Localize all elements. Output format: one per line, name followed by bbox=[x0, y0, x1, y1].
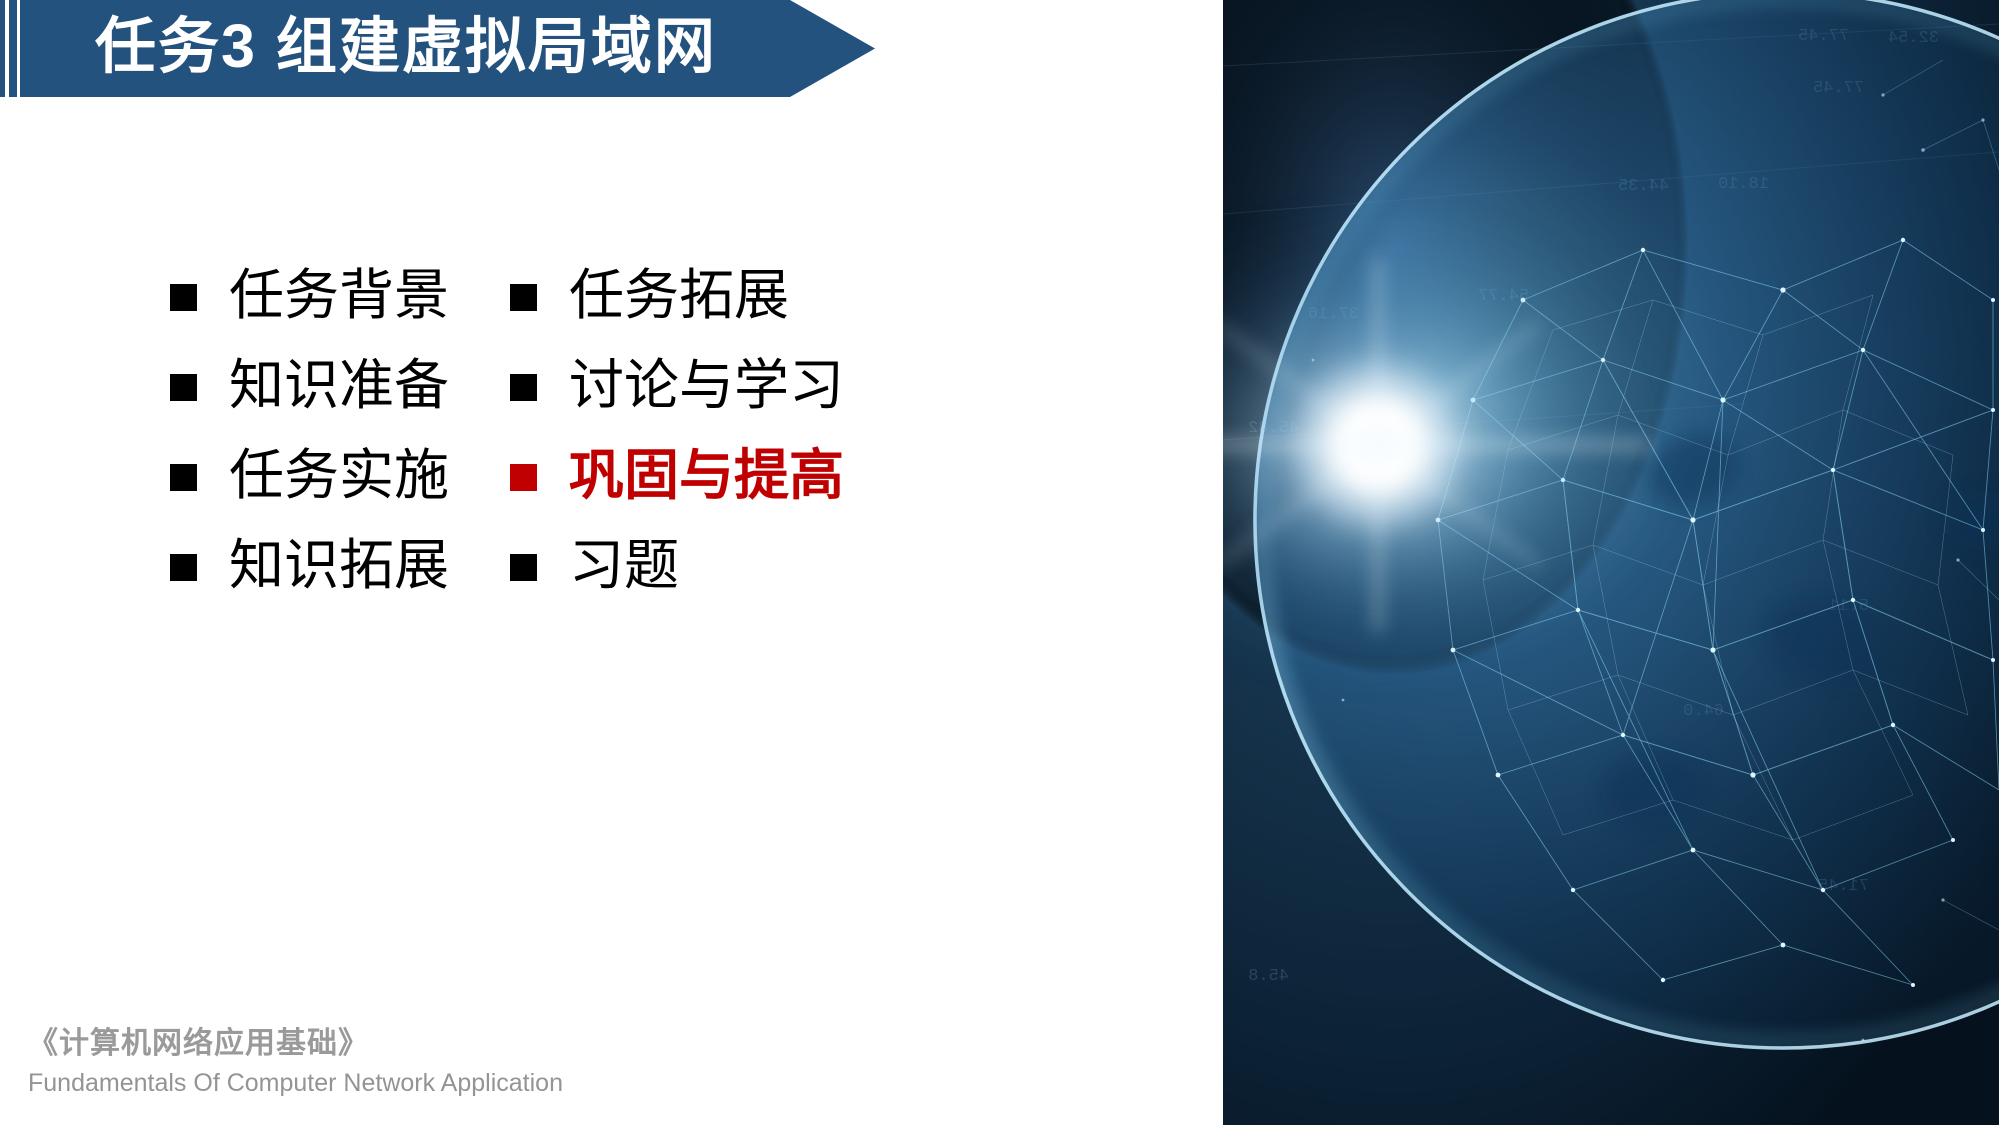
list-item-label: 知识拓展 bbox=[229, 535, 449, 595]
footer: 《计算机网络应用基础》 Fundamentals Of Computer Net… bbox=[28, 1023, 728, 1101]
footer-course-title-en: Fundamentals Of Computer Network Applica… bbox=[28, 1065, 728, 1101]
square-bullet-icon bbox=[170, 284, 197, 311]
list-item-label: 习题 bbox=[569, 535, 679, 595]
square-bullet-icon bbox=[170, 554, 197, 581]
list-item-label: 知识准备 bbox=[229, 355, 449, 415]
square-bullet-icon bbox=[510, 374, 537, 401]
list-item-label: 任务背景 bbox=[229, 265, 449, 325]
list-item-exercises[interactable]: 习题 bbox=[510, 520, 910, 610]
list-row: 任务背景 任务拓展 bbox=[170, 250, 1000, 340]
header-banner: 任务3 组建虚拟局域网 bbox=[0, 0, 880, 97]
list-item-knowledge-preparation[interactable]: 知识准备 bbox=[170, 340, 510, 430]
globe-illustration: 32.54 77.45 77.45 44.35 18.10 37.16 45.8… bbox=[1223, 0, 1999, 1125]
list-item-label: 任务拓展 bbox=[569, 265, 789, 325]
banner-accent-stripe-inner bbox=[9, 0, 17, 97]
square-bullet-icon bbox=[510, 284, 537, 311]
list-item-discussion-and-study[interactable]: 讨论与学习 bbox=[510, 340, 910, 430]
footer-course-title-cn: 《计算机网络应用基础》 bbox=[28, 1023, 728, 1065]
list-item-task-extension[interactable]: 任务拓展 bbox=[510, 250, 910, 340]
banner-accent-stripe-outer bbox=[0, 0, 5, 97]
list-item-label: 讨论与学习 bbox=[569, 355, 844, 415]
list-item-task-implementation[interactable]: 任务实施 bbox=[170, 430, 510, 520]
square-bullet-icon bbox=[510, 554, 537, 581]
square-bullet-icon bbox=[170, 464, 197, 491]
page-title: 任务3 组建虚拟局域网 bbox=[95, 0, 717, 97]
list-item-label: 任务实施 bbox=[229, 445, 449, 505]
square-bullet-icon bbox=[510, 464, 537, 491]
list-item-knowledge-extension[interactable]: 知识拓展 bbox=[170, 520, 510, 610]
svg-text:45.8: 45.8 bbox=[1248, 967, 1289, 986]
digital-globe-network-image: 32.54 77.45 77.45 44.35 18.10 37.16 45.8… bbox=[1223, 0, 1999, 1125]
square-bullet-icon bbox=[170, 374, 197, 401]
list-row: 知识准备 讨论与学习 bbox=[170, 340, 1000, 430]
list-item-consolidation-and-improvement[interactable]: 巩固与提高 bbox=[510, 430, 910, 520]
list-item-task-background[interactable]: 任务背景 bbox=[170, 250, 510, 340]
list-row: 知识拓展 习题 bbox=[170, 520, 1000, 610]
list-item-label: 巩固与提高 bbox=[569, 445, 844, 505]
topic-list: 任务背景 任务拓展 知识准备 讨论与学习 任务实施 巩固与提高 知识拓展 bbox=[170, 250, 1000, 610]
list-row: 任务实施 巩固与提高 bbox=[170, 430, 1000, 520]
